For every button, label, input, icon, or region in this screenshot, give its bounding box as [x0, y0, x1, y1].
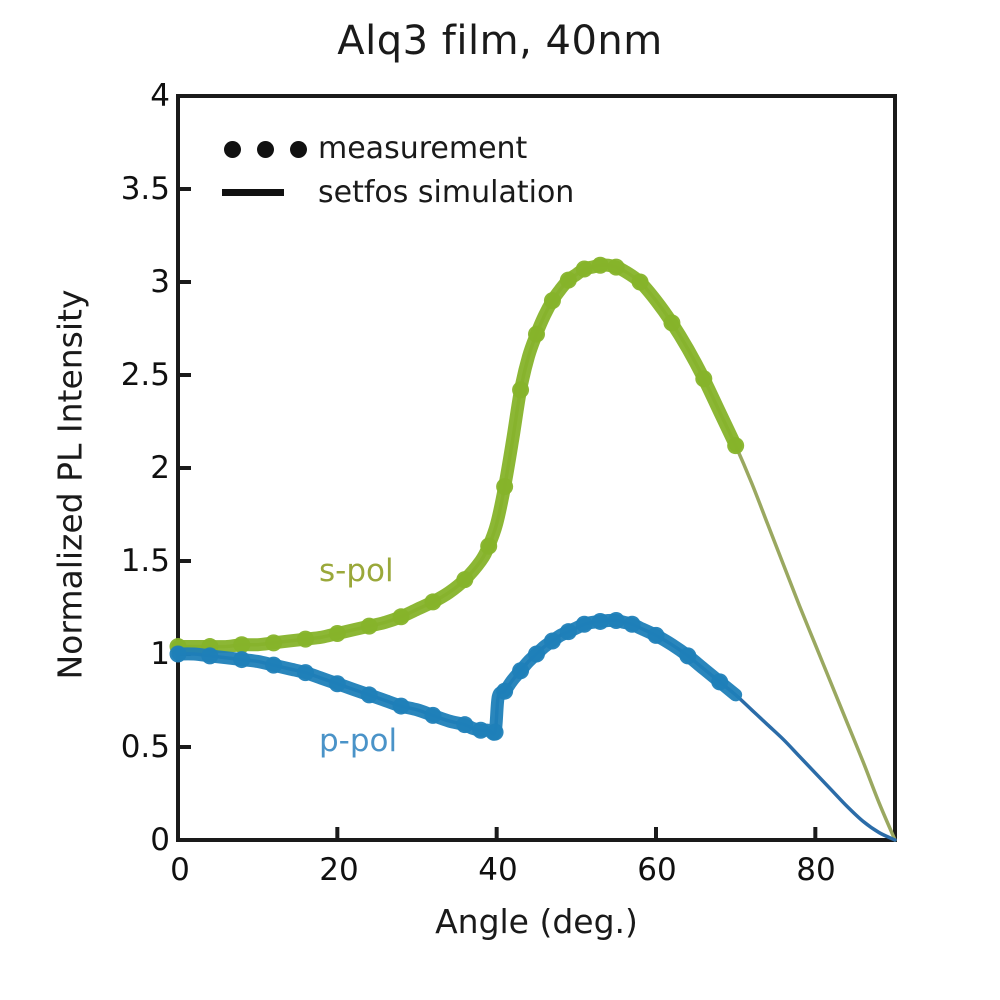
measurement-point [560, 623, 577, 640]
measurement-band [178, 265, 736, 647]
measurement-point [496, 478, 513, 495]
plot-canvas [0, 0, 1000, 1000]
measurement-point [632, 274, 649, 291]
chart-figure: Alq3 film, 40nm Normalized PL Intensity … [0, 0, 1000, 1000]
measurement-point [393, 698, 410, 715]
measurement-point [512, 662, 529, 679]
measurement-point [624, 616, 641, 633]
series-s-pol [170, 257, 896, 840]
measurement-point [265, 634, 282, 651]
measurement-point [487, 724, 504, 741]
measurement-point [329, 675, 346, 692]
measurement-point [648, 627, 665, 644]
measurement-point [679, 647, 696, 664]
measurement-point [456, 571, 473, 588]
measurement-point [711, 673, 728, 690]
measurement-point [297, 664, 314, 681]
measurement-point [472, 722, 489, 739]
measurement-point [329, 625, 346, 642]
measurement-point [560, 272, 577, 289]
measurement-point [496, 683, 513, 700]
measurement-point [361, 618, 378, 635]
measurement-point [424, 593, 441, 610]
measurement-point [727, 437, 744, 454]
measurement-point [544, 632, 561, 649]
measurement-point [544, 292, 561, 309]
measurement-point [297, 631, 314, 648]
measurement-point [512, 381, 529, 398]
measurement-point [424, 707, 441, 724]
measurement-point [592, 613, 609, 630]
measurement-point [233, 636, 250, 653]
measurement-point [576, 260, 593, 277]
measurement-point [695, 370, 712, 387]
measurement-point [663, 314, 680, 331]
measurement-point [170, 646, 187, 663]
measurement-point [456, 716, 473, 733]
axes-frame [178, 96, 895, 840]
measurement-point [528, 646, 545, 663]
measurement-point [393, 608, 410, 625]
measurement-point [233, 651, 250, 668]
measurement-point [608, 259, 625, 276]
measurement-point [480, 538, 497, 555]
measurement-point [592, 257, 609, 274]
measurement-point [608, 612, 625, 629]
measurement-point [361, 686, 378, 703]
measurement-point [576, 616, 593, 633]
measurement-point [528, 326, 545, 343]
measurement-point [265, 657, 282, 674]
measurement-point [201, 647, 218, 664]
